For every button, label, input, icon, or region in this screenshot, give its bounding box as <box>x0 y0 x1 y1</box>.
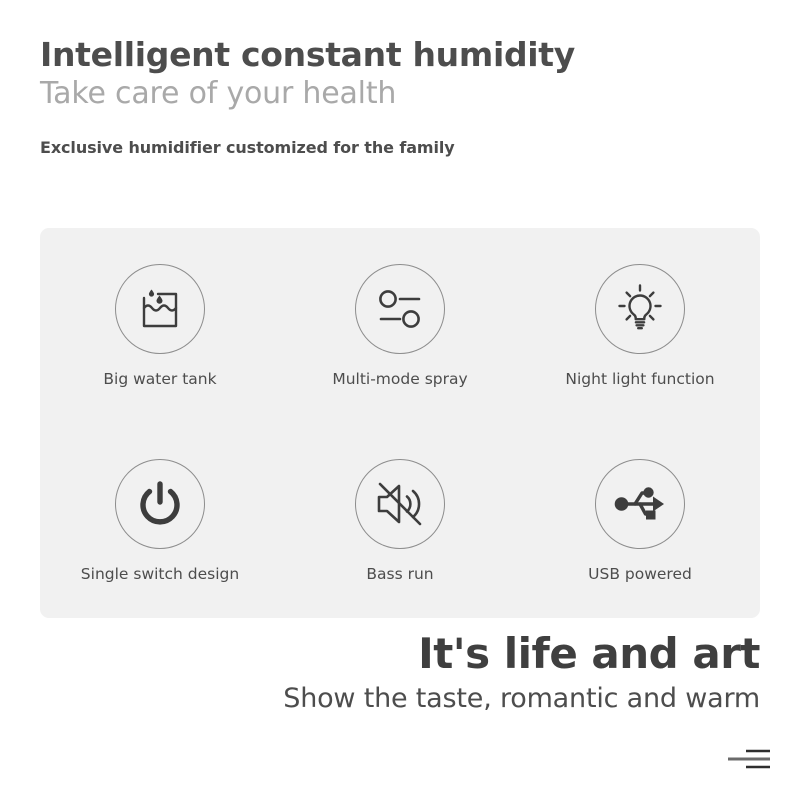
feature-item-usb-powered[interactable]: USB powered <box>520 423 760 618</box>
page-title: Intelligent constant humidity <box>40 36 740 74</box>
header-block: Intelligent constant humidity Take care … <box>40 36 740 157</box>
feature-label: Multi-mode spray <box>332 372 467 388</box>
light-bulb-icon <box>613 282 667 336</box>
page-tagline: Exclusive humidifier customized for the … <box>40 138 740 157</box>
feature-label: Single switch design <box>81 567 239 583</box>
feature-item-big-water-tank[interactable]: Big water tank <box>40 228 280 423</box>
icon-circle <box>355 459 445 549</box>
stacked-lines-icon <box>726 746 772 772</box>
footer-block: It's life and art Show the taste, romant… <box>40 632 760 714</box>
corner-lines-mark <box>726 746 772 772</box>
feature-item-bass-run[interactable]: Bass run <box>280 423 520 618</box>
feature-label: Bass run <box>366 567 433 583</box>
feature-grid: Big water tank Multi-mode spray <box>40 228 760 618</box>
icon-circle <box>595 459 685 549</box>
footer-headline: It's life and art <box>40 632 760 676</box>
feature-card: Big water tank Multi-mode spray <box>40 228 760 618</box>
speaker-muted-icon <box>373 479 427 529</box>
feature-label: USB powered <box>588 567 692 583</box>
feature-item-single-switch-design[interactable]: Single switch design <box>40 423 280 618</box>
usb-icon <box>613 480 667 528</box>
icon-circle <box>115 459 205 549</box>
feature-label: Big water tank <box>103 372 216 388</box>
icon-circle <box>595 264 685 354</box>
feature-item-multi-mode-spray[interactable]: Multi-mode spray <box>280 228 520 423</box>
icon-circle <box>115 264 205 354</box>
feature-label: Night light function <box>565 372 714 388</box>
footer-subline: Show the taste, romantic and warm <box>40 684 760 714</box>
sliders-icon <box>374 286 426 332</box>
water-tank-icon <box>134 284 186 334</box>
icon-circle <box>355 264 445 354</box>
power-icon <box>134 478 186 530</box>
feature-item-night-light-function[interactable]: Night light function <box>520 228 760 423</box>
page-subtitle: Take care of your health <box>40 76 740 112</box>
